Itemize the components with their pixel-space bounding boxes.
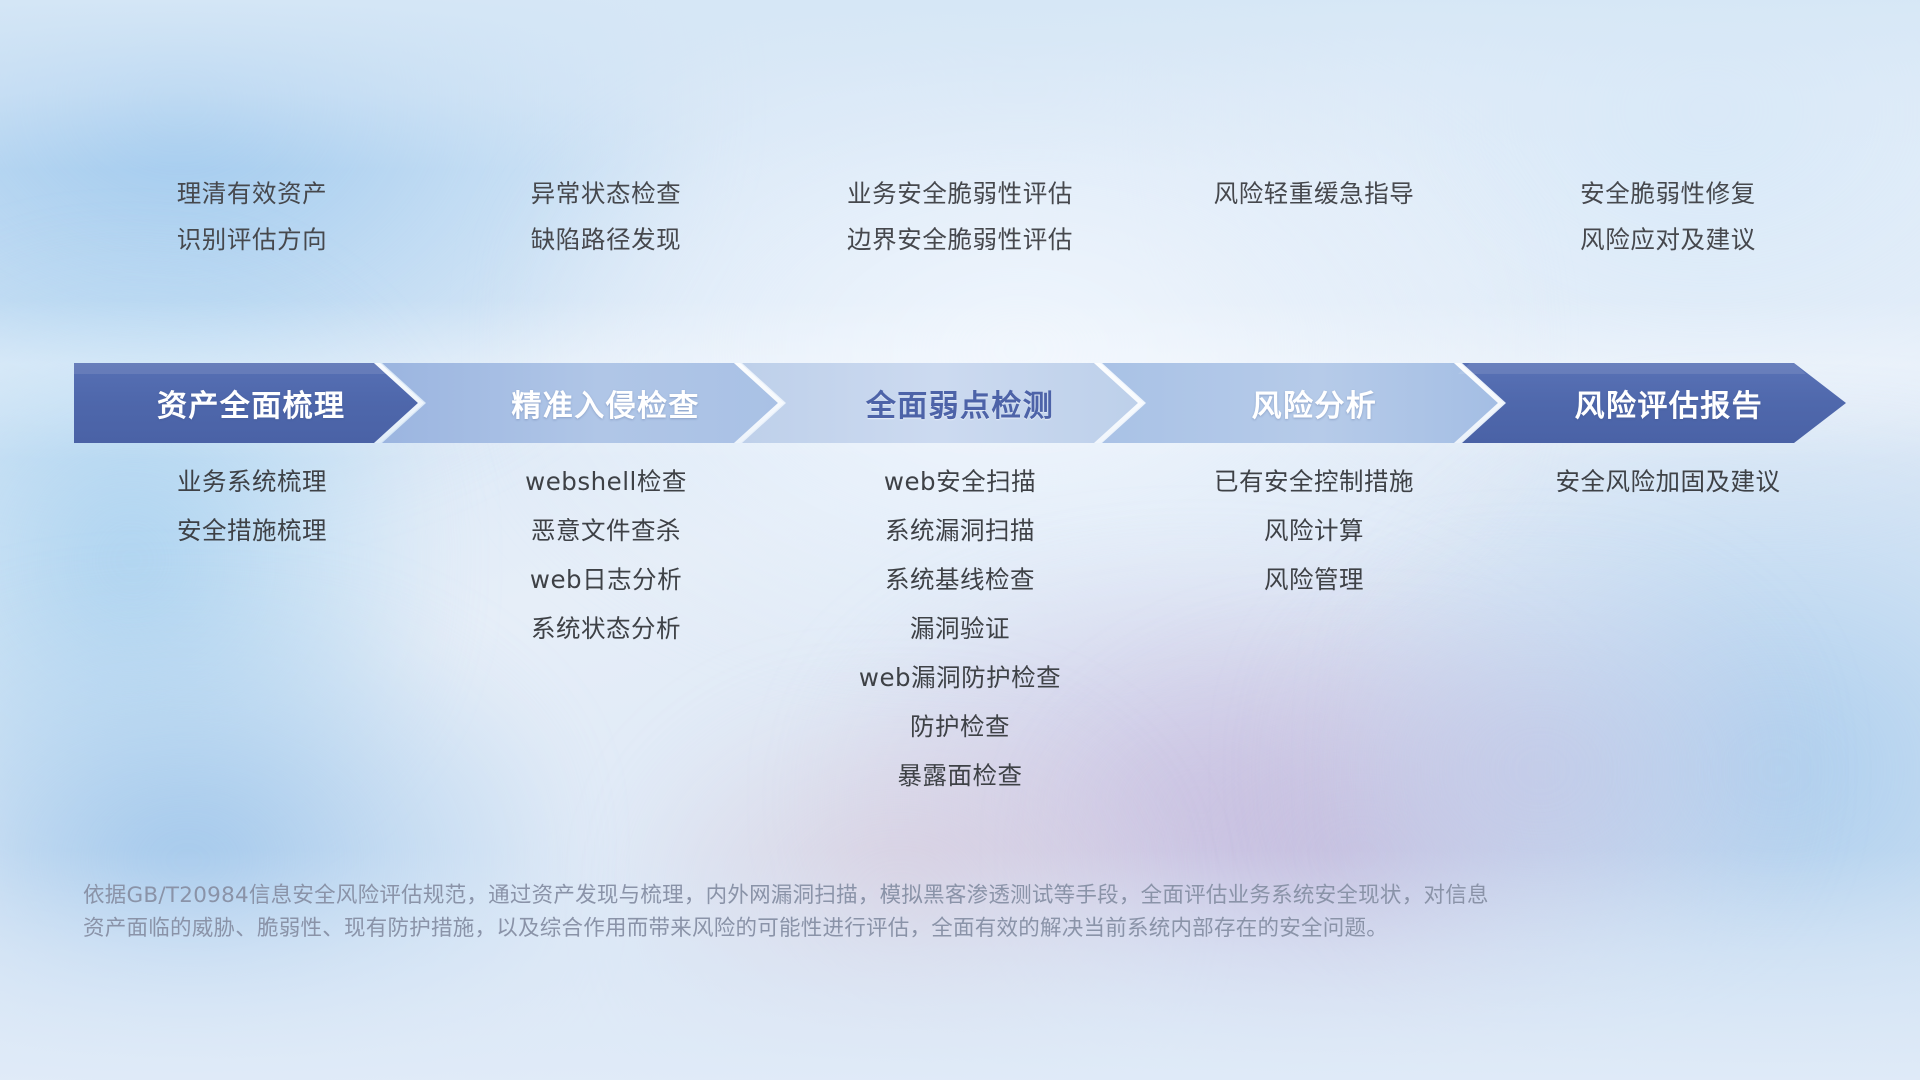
bottom-note: 安全风险加固及建议: [1556, 470, 1781, 495]
bottom-note: 恶意文件查杀: [531, 519, 681, 544]
top-notes-stage-2: 异常状态检查 缺陷路径发现: [429, 182, 783, 282]
top-note: 安全脆弱性修复: [1580, 182, 1756, 207]
bottom-note: 风险管理: [1264, 568, 1364, 593]
top-note: 风险应对及建议: [1580, 228, 1756, 253]
bottom-note: web安全扫描: [884, 470, 1036, 495]
stage-title: 精准入侵检查: [511, 381, 699, 425]
top-note: 边界安全脆弱性评估: [847, 228, 1073, 253]
bottom-note: webshell检查: [525, 470, 687, 495]
stage-title: 全面弱点检测: [866, 381, 1054, 425]
stage-1[interactable]: 资产全面梳理: [74, 363, 428, 443]
bottom-notes-stage-4: 已有安全控制措施 风险计算 风险管理: [1137, 470, 1491, 617]
stage-5[interactable]: 风险评估报告: [1492, 363, 1846, 443]
bottom-note: 业务系统梳理: [177, 470, 327, 495]
bottom-note: 风险计算: [1264, 519, 1364, 544]
bottom-note: web漏洞防护检查: [859, 666, 1061, 691]
top-notes-stage-5: 安全脆弱性修复 风险应对及建议: [1491, 182, 1845, 282]
top-notes-stage-4: 风险轻重缓急指导: [1137, 182, 1491, 282]
top-notes-stage-1: 理清有效资产 识别评估方向: [75, 182, 429, 282]
top-notes-stage-3: 业务安全脆弱性评估 边界安全脆弱性评估: [783, 182, 1137, 282]
bottom-note: 已有安全控制措施: [1214, 470, 1414, 495]
footer-line-1: 依据GB/T20984信息安全风险评估规范，通过资产发现与梳理，内外网漏洞扫描，…: [83, 880, 1693, 913]
stage-4[interactable]: 风险分析: [1137, 363, 1491, 443]
stage-title: 风险分析: [1252, 381, 1378, 425]
bottom-notes-stage-3: web安全扫描 系统漏洞扫描 系统基线检查 漏洞验证 web漏洞防护检查 防护检…: [783, 470, 1137, 813]
bottom-note: web日志分析: [530, 568, 682, 593]
top-note: 风险轻重缓急指导: [1214, 182, 1415, 207]
bottom-notes-stage-1: 业务系统梳理 安全措施梳理: [75, 470, 429, 568]
top-note: 识别评估方向: [177, 228, 328, 253]
stage-title: 资产全面梳理: [157, 381, 345, 425]
stage-title: 风险评估报告: [1575, 381, 1763, 425]
top-note: 理清有效资产: [177, 182, 328, 207]
bottom-note: 漏洞验证: [910, 617, 1010, 642]
process-chevron-banner: 资产全面梳理 精准入侵检查 全面弱点检测 风险分析 风险评估报告: [74, 363, 1846, 443]
chevron-labels: 资产全面梳理 精准入侵检查 全面弱点检测 风险分析 风险评估报告: [74, 363, 1846, 443]
footer-description: 依据GB/T20984信息安全风险评估规范，通过资产发现与梳理，内外网漏洞扫描，…: [83, 880, 1693, 945]
stage-2[interactable]: 精准入侵检查: [428, 363, 782, 443]
bottom-note: 安全措施梳理: [177, 519, 327, 544]
bottom-notes-stage-2: webshell检查 恶意文件查杀 web日志分析 系统状态分析: [429, 470, 783, 666]
footer-line-2: 资产面临的威胁、脆弱性、现有防护措施，以及综合作用而带来风险的可能性进行评估，全…: [83, 913, 1693, 946]
top-note: 缺陷路径发现: [531, 228, 682, 253]
bottom-note: 防护检查: [910, 715, 1010, 740]
stage-3[interactable]: 全面弱点检测: [783, 363, 1137, 443]
top-notes-row: 理清有效资产 识别评估方向 异常状态检查 缺陷路径发现 业务安全脆弱性评估 边界…: [75, 182, 1845, 282]
top-note: 异常状态检查: [531, 182, 682, 207]
bottom-note: 系统漏洞扫描: [885, 519, 1035, 544]
bottom-notes-row: 业务系统梳理 安全措施梳理 webshell检查 恶意文件查杀 web日志分析 …: [75, 470, 1845, 813]
bottom-note: 系统基线检查: [885, 568, 1035, 593]
bottom-notes-stage-5: 安全风险加固及建议: [1491, 470, 1845, 519]
bottom-note: 暴露面检查: [898, 764, 1023, 789]
bottom-note: 系统状态分析: [531, 617, 681, 642]
top-note: 业务安全脆弱性评估: [847, 182, 1073, 207]
